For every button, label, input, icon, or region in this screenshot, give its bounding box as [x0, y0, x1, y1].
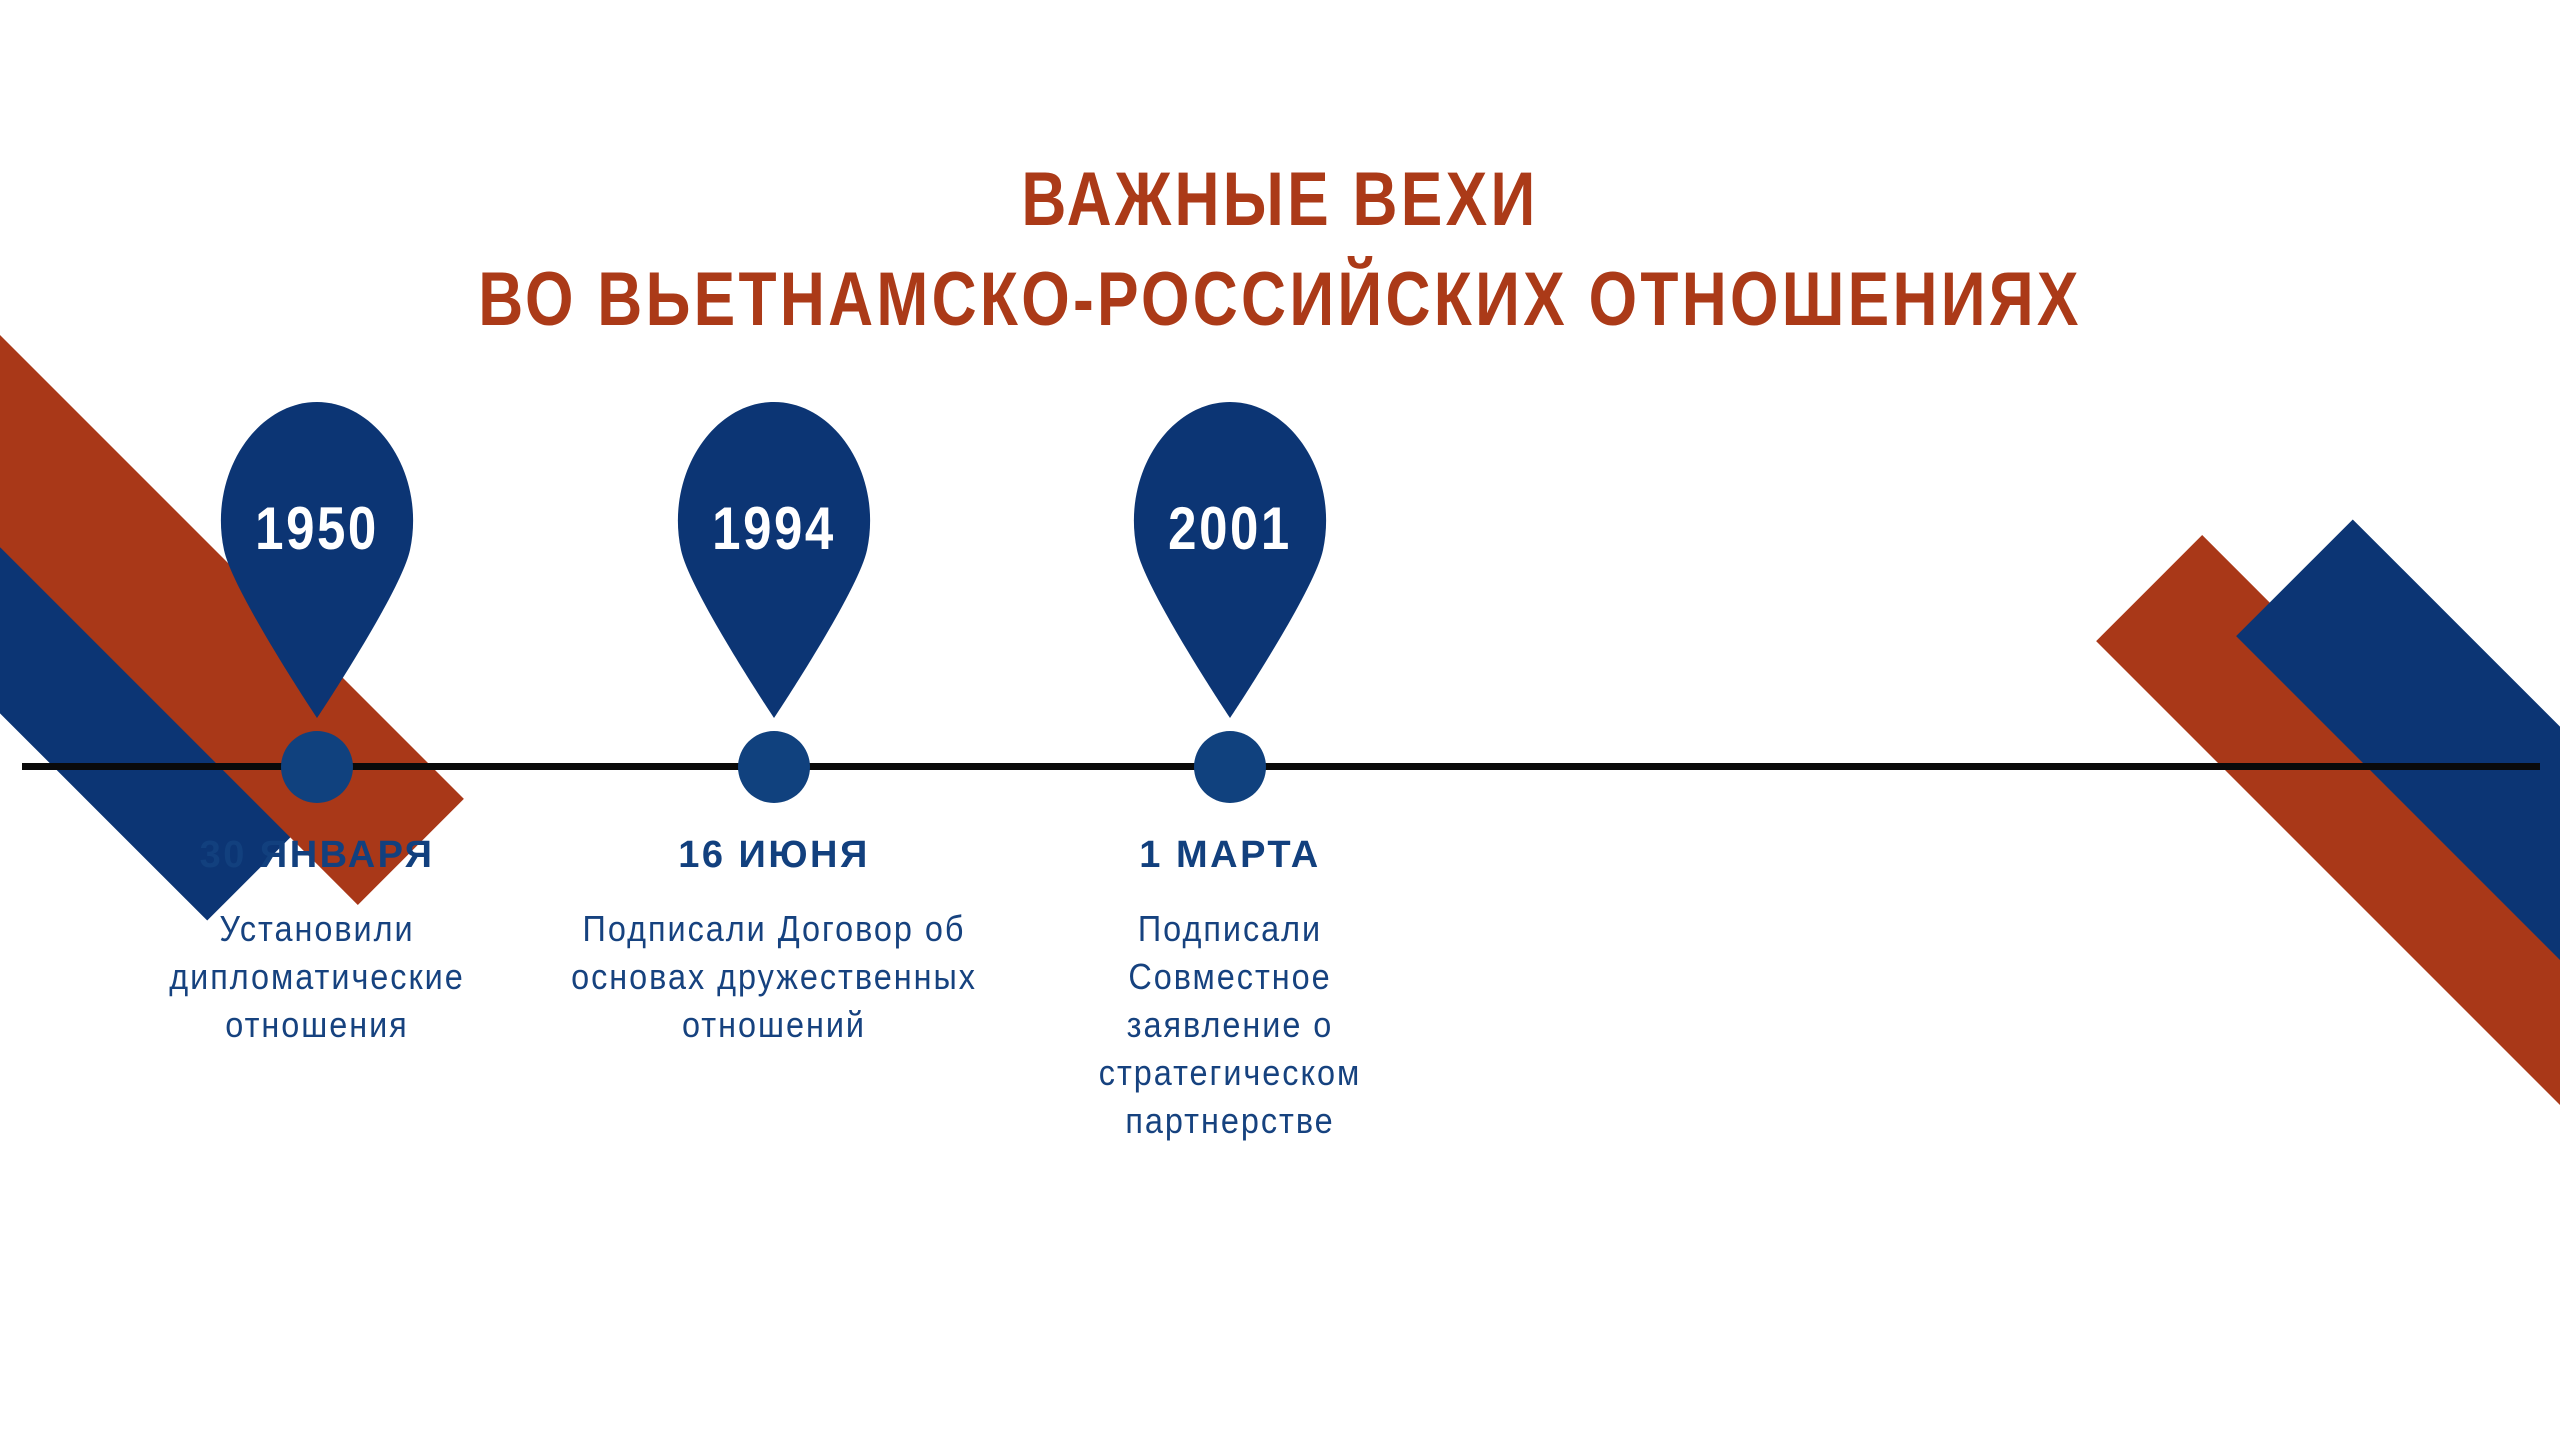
milestone-description: Подписали Совместное заявление о стратег… — [1050, 905, 1410, 1144]
milestone-description: Установили дипломатические отношения — [128, 905, 506, 1049]
map-pin-icon: 1994 — [671, 402, 877, 718]
milestone-date: 1 МАРТА — [970, 834, 1490, 877]
timeline-dot — [281, 731, 353, 803]
milestone-description: Подписали Договор об основах дружественн… — [563, 905, 986, 1049]
pin-year-label: 2001 — [1142, 494, 1317, 563]
milestone-date: 16 ИЮНЯ — [514, 834, 1034, 877]
pin-year-label: 1950 — [229, 494, 404, 563]
timeline-milestone[interactable]: 1994 16 ИЮНЯ Подписали Договор об основа… — [514, 0, 1034, 1440]
infographic-canvas: ВАЖНЫЕ ВЕХИ ВО ВЬЕТНАМСКО-РОССИЙСКИХ ОТН… — [0, 0, 2560, 1440]
map-pin-icon: 2001 — [1127, 402, 1333, 718]
timeline-milestone[interactable]: 2001 1 МАРТА Подписали Совместное заявле… — [970, 0, 1490, 1440]
timeline-dot — [738, 731, 810, 803]
bottom-right-blue-stripe — [2236, 519, 2560, 1440]
map-pin-icon: 1950 — [214, 402, 420, 718]
bottom-right-red-stripe — [2096, 535, 2560, 1440]
timeline-milestone[interactable]: 1950 30 ЯНВАРЯ Установили дипломатически… — [57, 0, 577, 1440]
pin-year-label: 1994 — [686, 494, 861, 563]
timeline-dot — [1194, 731, 1266, 803]
milestone-date: 30 ЯНВАРЯ — [57, 834, 577, 877]
